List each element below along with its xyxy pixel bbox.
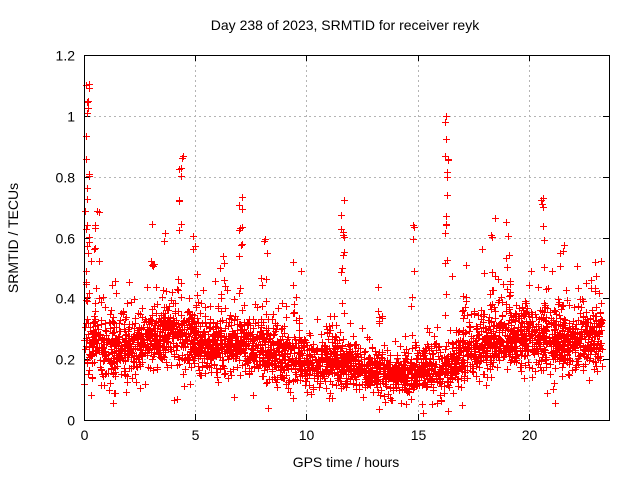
y-tick-label: 0 <box>67 413 75 429</box>
y-tick-label: 0.2 <box>56 352 76 368</box>
chart-container: 00.20.40.60.811.2 05101520 Day 238 of 20… <box>0 0 640 480</box>
chart-title: Day 238 of 2023, SRMTID for receiver rey… <box>211 17 480 33</box>
y-tick-label: 1.2 <box>56 48 76 64</box>
y-tick-label: 0.8 <box>56 170 76 186</box>
y-tick-label: 0.6 <box>56 231 76 247</box>
scatter-plot: 00.20.40.60.811.2 05101520 Day 238 of 20… <box>0 0 640 480</box>
x-tick-label: 20 <box>522 427 538 443</box>
y-tick-label: 1 <box>67 109 75 125</box>
y-tick-label: 0.4 <box>56 291 76 307</box>
x-tick-label: 0 <box>81 427 89 443</box>
x-tick-label: 5 <box>192 427 200 443</box>
x-tick-label: 10 <box>299 427 315 443</box>
x-tick-label: 15 <box>411 427 427 443</box>
x-axis-title: GPS time / hours <box>293 454 400 470</box>
y-axis-title: SRMTID / TECUs <box>5 183 21 293</box>
